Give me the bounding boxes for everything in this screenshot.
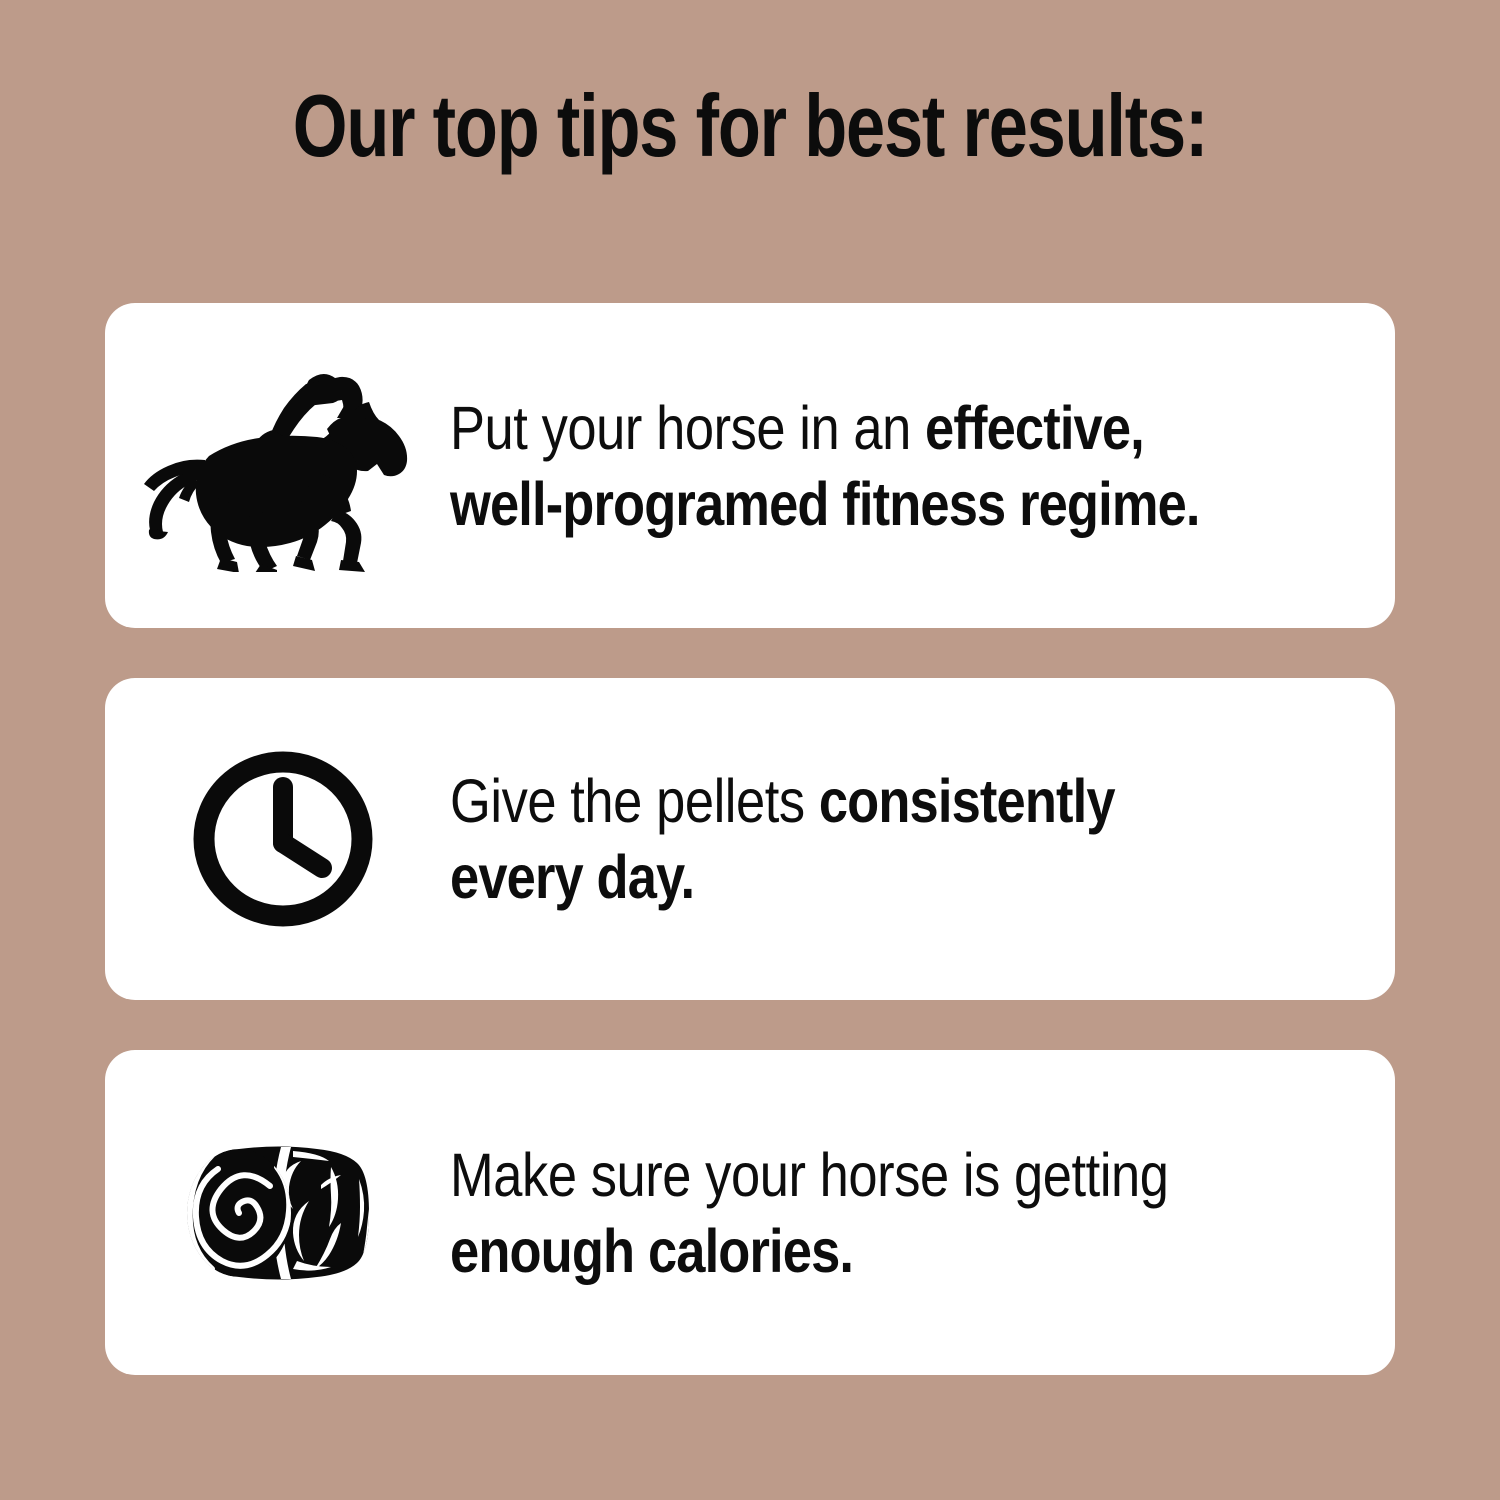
tip-card-2-icon-slot [105, 678, 450, 1000]
horse-rider-icon [141, 360, 409, 572]
tip-card-3-text: Make sure your horse is getting enough c… [450, 1137, 1263, 1289]
hay-bale-icon [181, 1145, 381, 1281]
tip-card-2-text-regular: Give the pellets [450, 767, 819, 835]
tip-card-3-icon-slot [105, 1050, 450, 1375]
tip-card-1: Put your horse in an effective, well-pro… [105, 303, 1395, 628]
tip-card-2: Give the pellets consistently every day. [105, 678, 1395, 1000]
tip-card-1-icon-slot [105, 303, 450, 628]
tip-card-3-text-regular: Make sure your horse is getting [450, 1141, 1169, 1209]
page-title: Our top tips for best results: [150, 78, 1350, 174]
clock-icon [192, 750, 374, 928]
tip-card-1-text-regular: Put your horse in an [450, 394, 925, 462]
tip-card-3: Make sure your horse is getting enough c… [105, 1050, 1395, 1375]
tip-card-3-text-bold: enough calories. [450, 1217, 853, 1285]
tip-card-2-text: Give the pellets consistently every day. [450, 763, 1263, 915]
tips-poster: Our top tips for best results: [0, 0, 1500, 1500]
tip-card-1-text: Put your horse in an effective, well-pro… [450, 390, 1263, 542]
